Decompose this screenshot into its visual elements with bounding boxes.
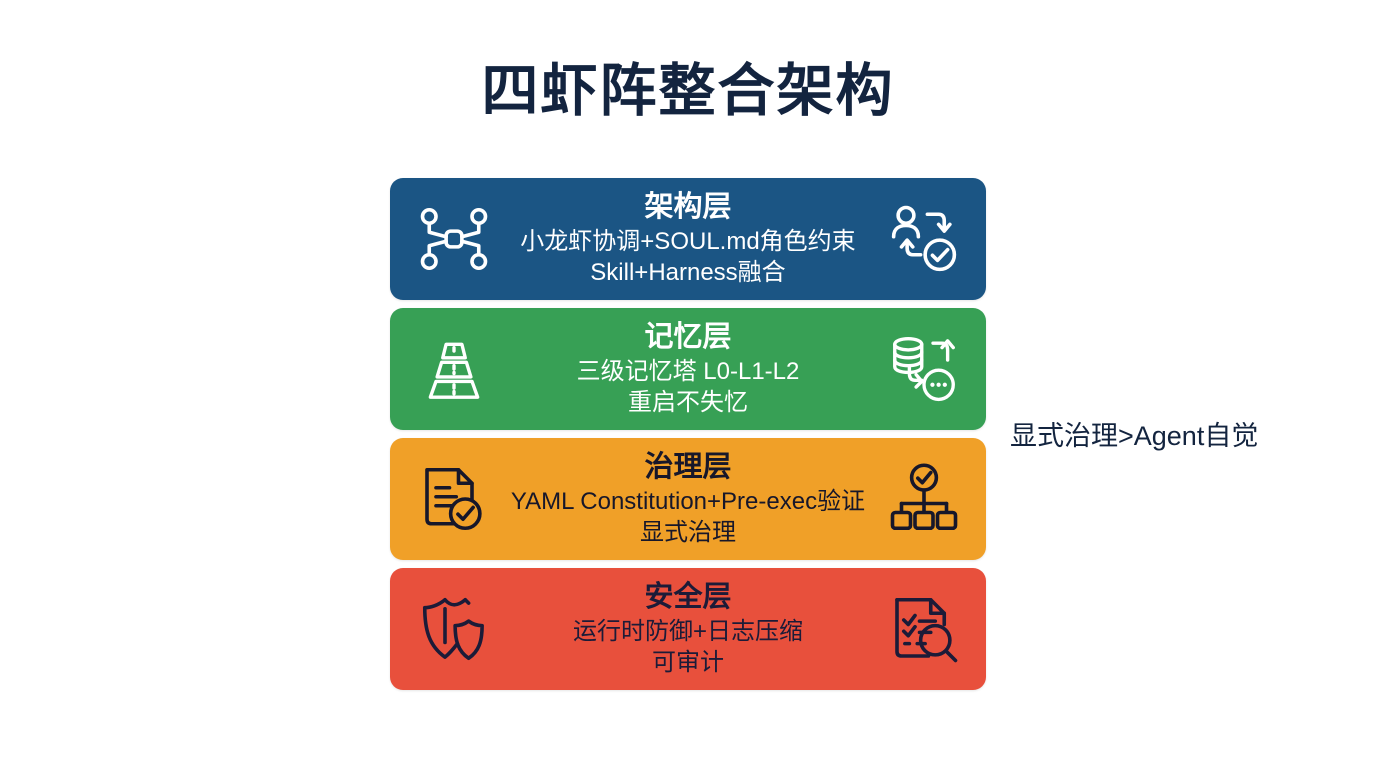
layer-line1-architecture: 小龙虾协调+SOUL.md角色约束 (476, 226, 900, 257)
layer-card-security[interactable]: 安全层 运行时防御+日志压缩 可审计 (390, 568, 986, 690)
architecture-layer-stack: 架构层 小龙虾协调+SOUL.md角色约束 Skill+Harness融合 (390, 178, 986, 698)
slide-canvas: 四虾阵整合架构 架构层 小龙虾协调+SOUL.md角色约束 (0, 0, 1376, 768)
hierarchy-check-icon (888, 463, 960, 535)
layer-line2-security: 可审计 (476, 647, 900, 678)
shield-layered-icon (418, 593, 490, 665)
page-title: 四虾阵整合架构 (0, 60, 1376, 123)
layer-line1-memory: 三级记忆塔 L0-L1-L2 (476, 356, 900, 387)
layer-title-security: 安全层 (476, 580, 900, 615)
layer-title-architecture: 架构层 (476, 190, 900, 225)
person-sync-check-icon (888, 203, 960, 275)
pyramid-tiers-icon (418, 333, 490, 405)
layer-line2-governance: 显式治理 (476, 517, 900, 548)
layer-line1-governance: YAML Constitution+Pre-exec验证 (476, 486, 900, 517)
layer-title-governance: 治理层 (476, 450, 900, 485)
network-nodes-icon (418, 203, 490, 275)
database-sync-chat-icon (888, 333, 960, 405)
layer-card-governance[interactable]: 治理层 YAML Constitution+Pre-exec验证 显式治理 (390, 438, 986, 560)
layer-line1-security: 运行时防御+日志压缩 (476, 616, 900, 647)
layer-card-memory[interactable]: 记忆层 三级记忆塔 L0-L1-L2 重启不失忆 (390, 308, 986, 430)
document-check-icon (418, 463, 490, 535)
layer-line2-architecture: Skill+Harness融合 (476, 257, 900, 288)
document-audit-search-icon (888, 593, 960, 665)
layer-title-memory: 记忆层 (476, 320, 900, 355)
layer-line2-memory: 重启不失忆 (476, 387, 900, 418)
side-caption: 显式治理>Agent自觉 (1010, 420, 1258, 452)
layer-card-architecture[interactable]: 架构层 小龙虾协调+SOUL.md角色约束 Skill+Harness融合 (390, 178, 986, 300)
